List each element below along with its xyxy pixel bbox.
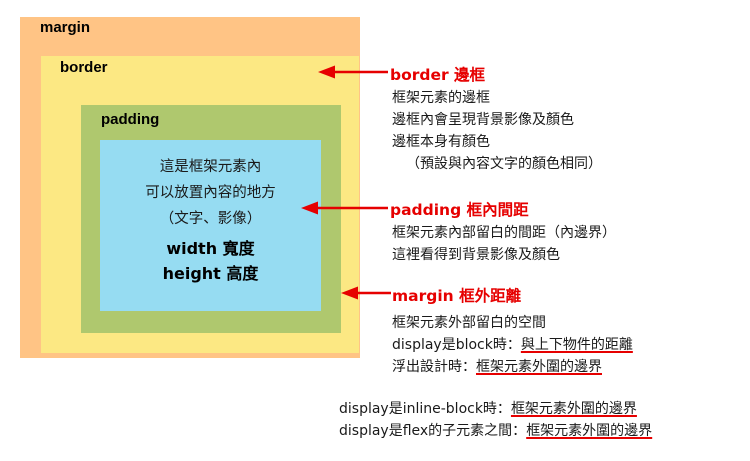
arrow-to-border-icon bbox=[318, 65, 388, 79]
annotation-title-border: border 邊框 bbox=[390, 63, 485, 85]
annotation-line-underlined: 浮出設計時：框架元素外圍的邊界 bbox=[392, 356, 633, 378]
footer-emphasis: 框架元素外圍的邊界 bbox=[526, 423, 652, 439]
padding-layer-label: padding bbox=[101, 111, 159, 128]
annotation-line: 邊框本身有顏色 bbox=[392, 131, 602, 153]
margin-layer-label: margin bbox=[40, 19, 90, 36]
annotation-prefix: 浮出設計時： bbox=[392, 359, 476, 375]
footer-prefix: display是flex的子元素之間： bbox=[339, 423, 526, 439]
annotation-line: 邊框內會呈現背景影像及顏色 bbox=[392, 109, 602, 131]
footer-notes: display是inline-block時：框架元素外圍的邊界 display是… bbox=[339, 398, 652, 442]
arrow-to-padding-icon bbox=[301, 201, 388, 215]
margin-layer: margin border padding 這是框架元素內 可以放置內容的地方 … bbox=[20, 17, 360, 358]
border-layer-label: border bbox=[60, 59, 108, 76]
height-label: height 高度 bbox=[100, 261, 321, 286]
annotation-body-margin: 框架元素外部留白的空間 display是block時：與上下物件的距離 浮出設計… bbox=[392, 312, 633, 378]
annotation-title-padding: padding 框內間距 bbox=[390, 198, 529, 220]
annotation-body-padding: 框架元素內部留白的間距（內邊界） 這裡看得到背景影像及顏色 bbox=[392, 222, 616, 266]
content-layer: 這是框架元素內 可以放置內容的地方 （文字、影像） width 寬度 heigh… bbox=[100, 140, 321, 311]
annotation-body-border: 框架元素的邊框 邊框內會呈現背景影像及顏色 邊框本身有顏色 （預設與內容文字的顏… bbox=[392, 87, 602, 175]
annotation-line: 框架元素外部留白的空間 bbox=[392, 312, 633, 334]
content-description: 這是框架元素內 可以放置內容的地方 （文字、影像） bbox=[100, 154, 321, 232]
content-line: 可以放置內容的地方 bbox=[100, 180, 321, 206]
annotation-line: （預設與內容文字的顏色相同） bbox=[392, 153, 602, 175]
content-dimensions: width 寬度 height 高度 bbox=[100, 236, 321, 286]
annotation-prefix: display是block時： bbox=[392, 337, 521, 353]
annotation-title-margin: margin 框外距離 bbox=[392, 284, 521, 306]
annotation-line: 框架元素的邊框 bbox=[392, 87, 602, 109]
annotation-line: 框架元素內部留白的間距（內邊界） bbox=[392, 222, 616, 244]
footer-line: display是inline-block時：框架元素外圍的邊界 bbox=[339, 398, 652, 420]
padding-layer: padding 這是框架元素內 可以放置內容的地方 （文字、影像） width … bbox=[81, 105, 341, 333]
width-label: width 寬度 bbox=[100, 236, 321, 261]
content-line: （文字、影像） bbox=[100, 206, 321, 232]
arrow-to-margin-icon bbox=[341, 286, 391, 300]
footer-line: display是flex的子元素之間：框架元素外圍的邊界 bbox=[339, 420, 652, 442]
annotation-line-underlined: display是block時：與上下物件的距離 bbox=[392, 334, 633, 356]
content-line: 這是框架元素內 bbox=[100, 154, 321, 180]
footer-prefix: display是inline-block時： bbox=[339, 401, 511, 417]
annotation-emphasis: 框架元素外圍的邊界 bbox=[476, 359, 602, 375]
box-model-diagram-page: margin border padding 這是框架元素內 可以放置內容的地方 … bbox=[0, 0, 750, 461]
footer-emphasis: 框架元素外圍的邊界 bbox=[511, 401, 637, 417]
annotation-line: 這裡看得到背景影像及顏色 bbox=[392, 244, 616, 266]
annotation-emphasis: 與上下物件的距離 bbox=[521, 337, 633, 353]
